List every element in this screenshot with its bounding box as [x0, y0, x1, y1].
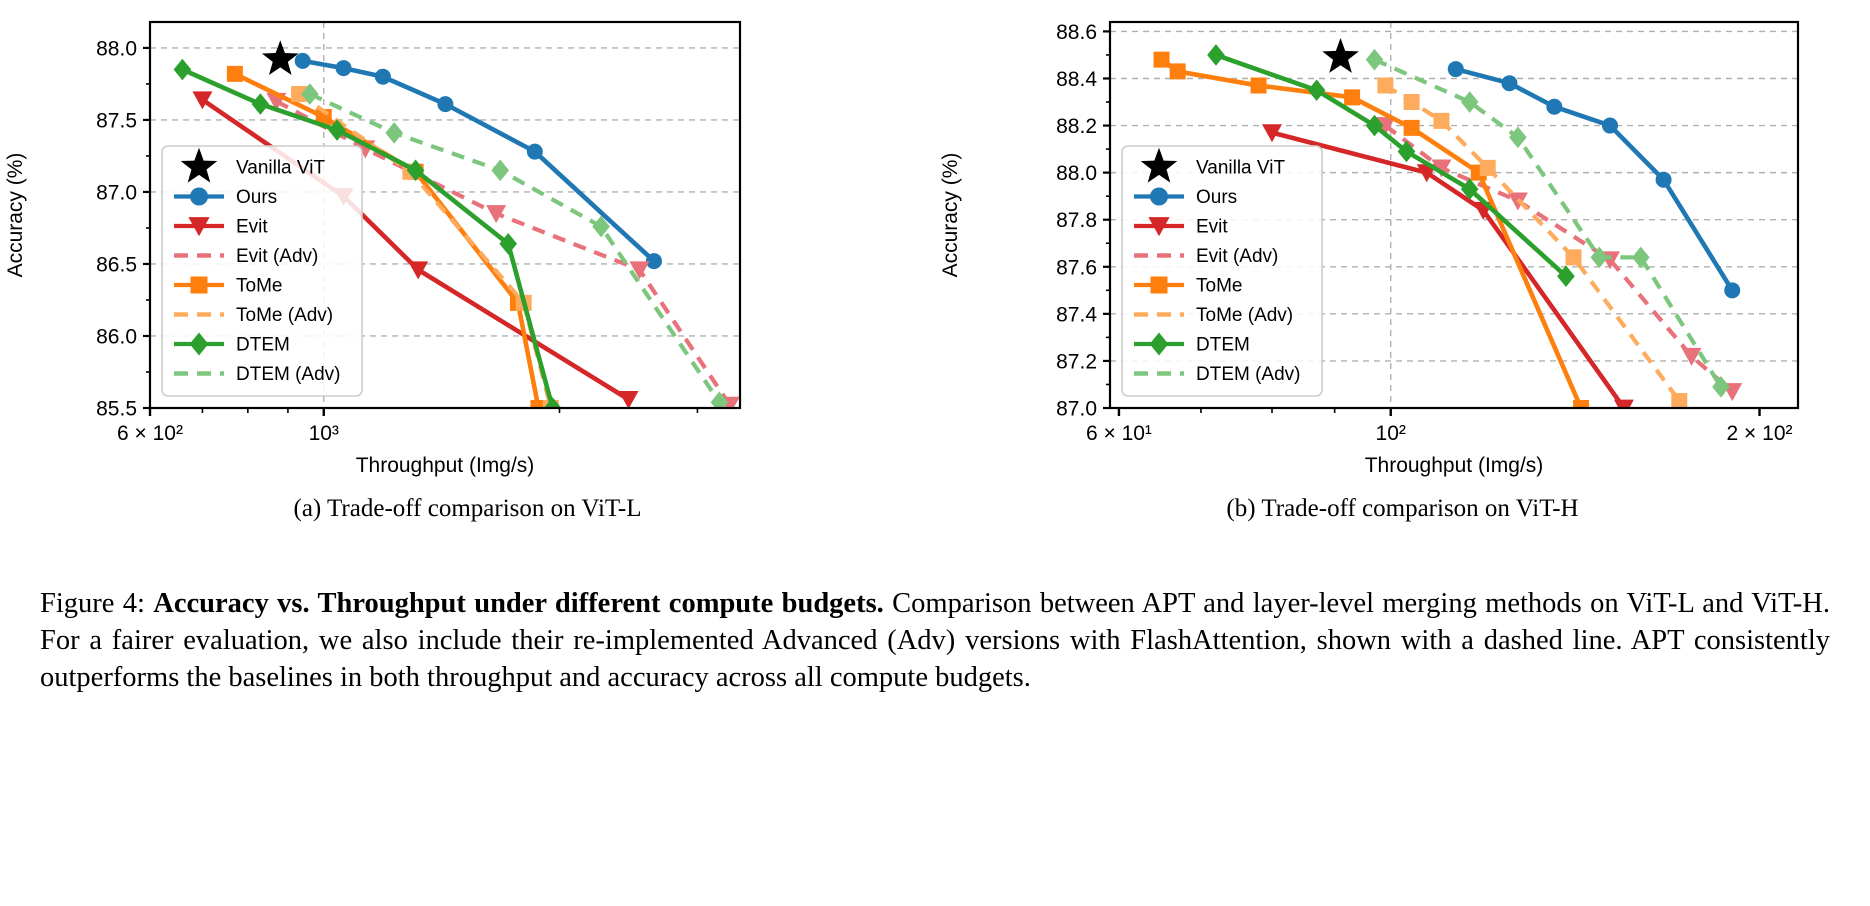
- data-point: [1501, 75, 1517, 91]
- y-tick-label: 85.5: [96, 398, 137, 421]
- chart-vit-h: 87.087.287.487.687.888.088.288.488.66 × …: [935, 0, 1870, 500]
- x-tick-label: 2 × 10²: [1727, 422, 1793, 445]
- legend-marker-square: [1151, 277, 1168, 294]
- panel-vit-l: 85.586.086.587.087.588.06 × 10²10³Throug…: [0, 0, 935, 545]
- x-axis-label: Throughput (Img/s): [356, 454, 535, 477]
- y-tick-label: 88.6: [1056, 21, 1097, 44]
- legend-label: Vanilla ViT: [1196, 158, 1285, 179]
- data-point: [1671, 393, 1687, 409]
- legend-label: DTEM (Adv): [1196, 364, 1301, 385]
- x-axis-label: Throughput (Img/s): [1365, 454, 1544, 477]
- data-point: [1433, 113, 1449, 129]
- data-point: [1566, 249, 1582, 265]
- data-point: [1724, 282, 1740, 298]
- data-point: [1404, 120, 1420, 136]
- subcaption-a: (a) Trade-off comparison on ViT-L: [0, 495, 935, 523]
- data-point: [1480, 160, 1496, 176]
- legend-label: Ours: [236, 187, 277, 208]
- y-tick-label: 87.8: [1056, 209, 1097, 232]
- y-tick-label: 88.0: [96, 37, 137, 60]
- y-tick-label: 88.2: [1056, 115, 1097, 138]
- data-point: [295, 53, 311, 69]
- legend-label: Evit (Adv): [1196, 246, 1278, 267]
- legend-label: ToMe (Adv): [1196, 305, 1293, 326]
- data-point: [1602, 118, 1618, 134]
- legend-label: ToMe: [236, 276, 282, 297]
- data-point: [437, 96, 453, 112]
- y-axis-label: Accuracy (%): [939, 153, 962, 278]
- legend-label: Evit (Adv): [236, 246, 318, 267]
- subcaption-b: (b) Trade-off comparison on ViT-H: [935, 495, 1870, 523]
- figure-number: Figure 4:: [40, 588, 145, 619]
- data-point: [1170, 63, 1186, 79]
- legend-label: Evit: [236, 217, 268, 238]
- y-tick-label: 87.0: [1056, 398, 1097, 421]
- chart-vit-l: 85.586.086.587.087.588.06 × 10²10³Throug…: [0, 0, 935, 500]
- legend-label: Ours: [1196, 187, 1237, 208]
- data-point: [646, 253, 662, 269]
- y-tick-label: 87.6: [1056, 256, 1097, 279]
- legend-label: DTEM (Adv): [236, 364, 341, 385]
- data-point: [527, 144, 543, 160]
- data-point: [336, 60, 352, 76]
- data-point: [1344, 89, 1360, 105]
- legend-label: Vanilla ViT: [236, 158, 325, 179]
- data-point: [1377, 78, 1393, 94]
- legend-box: [162, 146, 362, 396]
- x-tick-label: 10²: [1376, 422, 1406, 445]
- data-point: [1546, 99, 1562, 115]
- legend: Vanilla ViTOursEvitEvit (Adv)ToMeToMe (A…: [1122, 146, 1322, 396]
- panel-vit-h: 87.087.287.487.687.888.088.288.488.66 × …: [935, 0, 1870, 545]
- legend-label: ToMe (Adv): [236, 305, 333, 326]
- legend-marker-square: [191, 277, 208, 294]
- figure-title: Accuracy vs. Throughput under different …: [153, 588, 884, 619]
- legend-label: Evit: [1196, 217, 1228, 238]
- data-point: [1404, 94, 1420, 110]
- legend-label: DTEM: [236, 335, 290, 356]
- y-tick-label: 87.4: [1056, 303, 1097, 326]
- y-tick-label: 86.5: [96, 253, 137, 276]
- figure-caption: Figure 4: Accuracy vs. Throughput under …: [40, 585, 1830, 696]
- y-tick-label: 86.0: [96, 325, 137, 348]
- legend-label: DTEM: [1196, 335, 1250, 356]
- data-point: [227, 66, 243, 82]
- data-point: [375, 69, 391, 85]
- legend-marker-circle: [1150, 188, 1168, 206]
- legend-box: [1122, 146, 1322, 396]
- y-axis-label: Accuracy (%): [4, 153, 27, 278]
- data-point: [1448, 61, 1464, 77]
- y-tick-label: 87.0: [96, 181, 137, 204]
- y-tick-label: 87.5: [96, 109, 137, 132]
- data-point: [1251, 78, 1267, 94]
- figure-4: 85.586.086.587.087.588.06 × 10²10³Throug…: [0, 0, 1870, 906]
- legend-marker-circle: [190, 188, 208, 206]
- x-tick-label: 6 × 10¹: [1086, 422, 1152, 445]
- plot-panels: 85.586.086.587.087.588.06 × 10²10³Throug…: [0, 0, 1870, 545]
- y-tick-label: 87.2: [1056, 350, 1097, 373]
- legend: Vanilla ViTOursEvitEvit (Adv)ToMeToMe (A…: [162, 146, 362, 396]
- legend-label: ToMe: [1196, 276, 1242, 297]
- x-tick-label: 6 × 10²: [117, 422, 183, 445]
- y-tick-label: 88.0: [1056, 162, 1097, 185]
- x-tick-label: 10³: [309, 422, 339, 445]
- data-point: [1656, 172, 1672, 188]
- y-tick-label: 88.4: [1056, 68, 1097, 91]
- data-point: [1154, 52, 1170, 68]
